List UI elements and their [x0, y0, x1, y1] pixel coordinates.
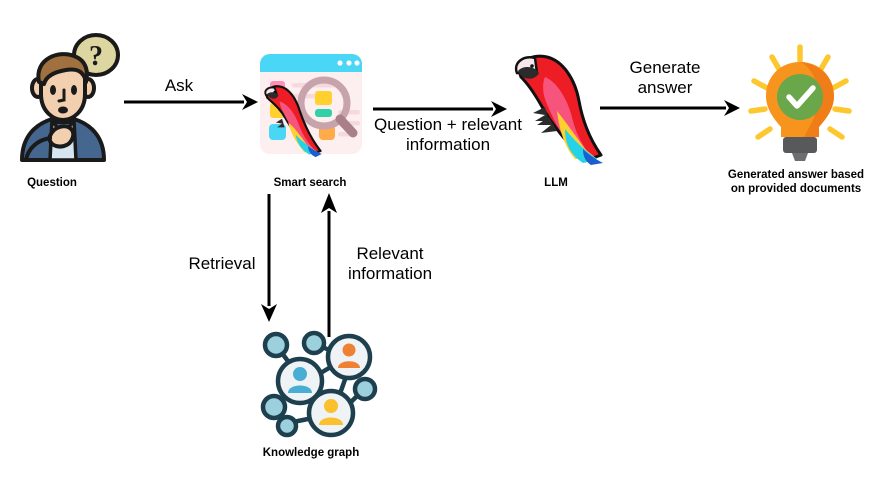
lightbulb-check-icon [748, 45, 852, 163]
node-generated-answer [748, 45, 852, 163]
node-question-caption: Question [0, 176, 104, 190]
node-generated-answer-caption: Generated answer based on provided docum… [696, 168, 878, 196]
node-smart-search-caption: Smart search [250, 176, 370, 190]
edge-retrieval-arrow [260, 194, 280, 326]
edge-generate-answer-arrow [600, 99, 748, 119]
knowledge-graph-icon [252, 327, 376, 445]
edge-ask-label: Ask [146, 76, 212, 96]
edge-generate-answer-label: Generate answer [612, 58, 718, 98]
edge-retrieval-label: Retrieval [182, 254, 262, 274]
thinking-person-icon: ? [8, 32, 118, 162]
edge-relevant-information-label: Relevant information [334, 244, 446, 284]
browser-search-parrot-icon [256, 50, 366, 160]
svg-text:?: ? [89, 41, 103, 72]
node-llm-caption: LLM [506, 176, 606, 190]
edge-question-relevant-label: Question + relevant information [368, 115, 528, 155]
node-knowledge-graph-caption: Knowledge graph [241, 446, 381, 460]
node-question: ? [8, 32, 118, 162]
node-knowledge-graph [252, 327, 376, 445]
diagram-canvas: ? Question [0, 0, 878, 488]
node-smart-search [256, 50, 366, 160]
